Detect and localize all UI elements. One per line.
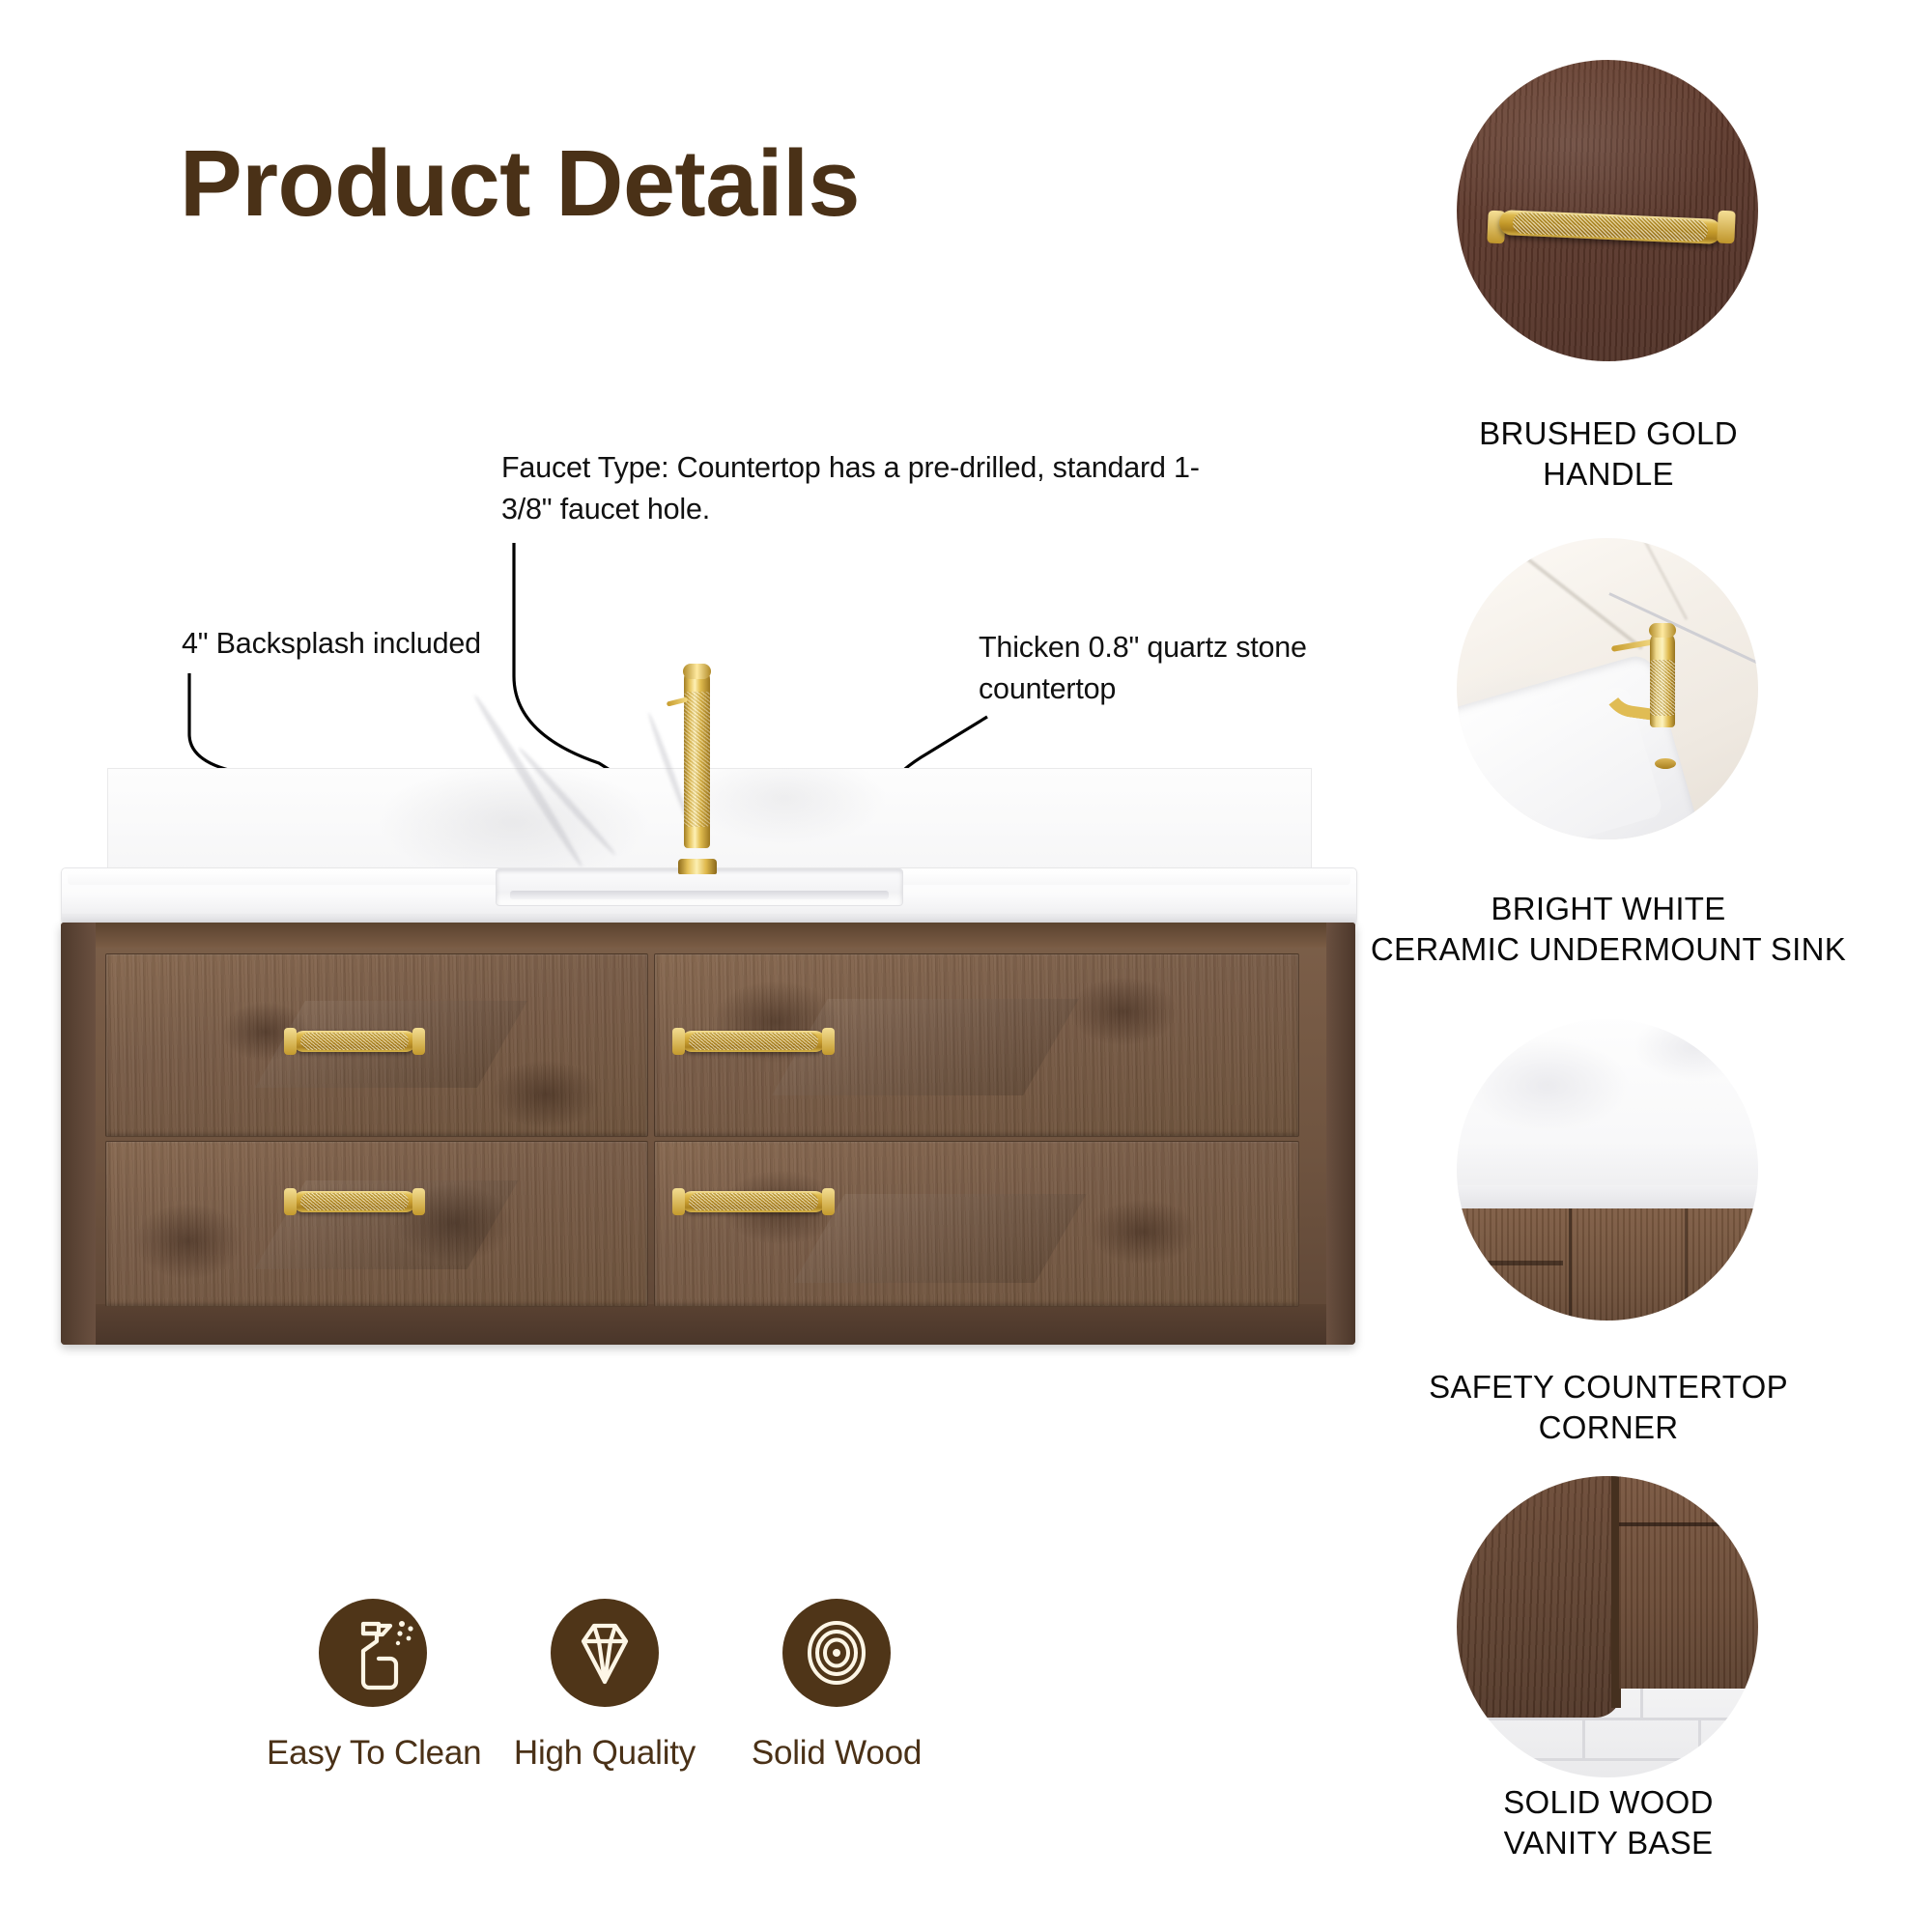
detail-photo-vanity-base [1457, 1476, 1758, 1777]
drawer-handle-bottom-right[interactable] [681, 1191, 826, 1212]
detail-caption-vanity-base: SOLID WOOD VANITY BASE [1338, 1782, 1879, 1863]
detail-caption-corner: SAFETY COUNTERTOP CORNER [1338, 1367, 1879, 1448]
drawer-bottom-left[interactable] [105, 1141, 648, 1307]
caption-line-2: HANDLE [1348, 454, 1869, 495]
feature-label: Easy To Clean [267, 1734, 479, 1773]
callout-backsplash: 4" Backsplash included [182, 623, 481, 665]
caption-line-2: CERAMIC UNDERMOUNT SINK [1328, 929, 1889, 970]
detail-photo-countertop-corner [1457, 1019, 1758, 1321]
caption-line-1: BRUSHED GOLD [1348, 413, 1869, 454]
callout-faucet-type: Faucet Type: Countertop has a pre-drille… [501, 447, 1216, 531]
feature-icon-badge [782, 1599, 891, 1707]
caption-line-1: SOLID WOOD [1338, 1782, 1879, 1823]
diamond-icon [551, 1599, 659, 1707]
feature-label: Solid Wood [730, 1734, 943, 1773]
feature-high-quality: High Quality [498, 1599, 711, 1773]
drawer-bottom-right[interactable] [654, 1141, 1299, 1307]
vanity-product-image [61, 768, 1355, 1372]
page-title: Product Details [180, 136, 860, 230]
caption-line-2: CORNER [1338, 1407, 1879, 1448]
caption-line-1: SAFETY COUNTERTOP [1338, 1367, 1879, 1407]
vanity-cabinet [61, 923, 1355, 1345]
spray-bottle-icon [319, 1599, 427, 1707]
product-details-infographic: Product Details Faucet Type: Countertop … [0, 0, 1932, 1932]
caption-line-1: BRIGHT WHITE [1328, 889, 1889, 929]
detail-photo-handle [1457, 60, 1758, 361]
feature-icon-badge [551, 1599, 659, 1707]
drawer-handle-bottom-left[interactable] [293, 1191, 416, 1212]
feature-easy-to-clean: Easy To Clean [267, 1599, 479, 1773]
feature-icon-badge [319, 1599, 427, 1707]
callout-quartz-countertop: Thicken 0.8" quartz stone countertop [979, 627, 1404, 711]
detail-caption-handle: BRUSHED GOLD HANDLE [1348, 413, 1869, 495]
feature-label: High Quality [498, 1734, 711, 1773]
caption-line-2: VANITY BASE [1338, 1823, 1879, 1863]
feature-solid-wood: Solid Wood [730, 1599, 943, 1773]
tree-rings-icon [782, 1599, 891, 1707]
drawer-handle-top-left[interactable] [293, 1031, 416, 1052]
drawer-handle-top-right[interactable] [681, 1031, 826, 1052]
gold-faucet [676, 667, 719, 874]
detail-caption-sink: BRIGHT WHITE CERAMIC UNDERMOUNT SINK [1328, 889, 1889, 970]
detail-photo-sink [1457, 538, 1758, 839]
